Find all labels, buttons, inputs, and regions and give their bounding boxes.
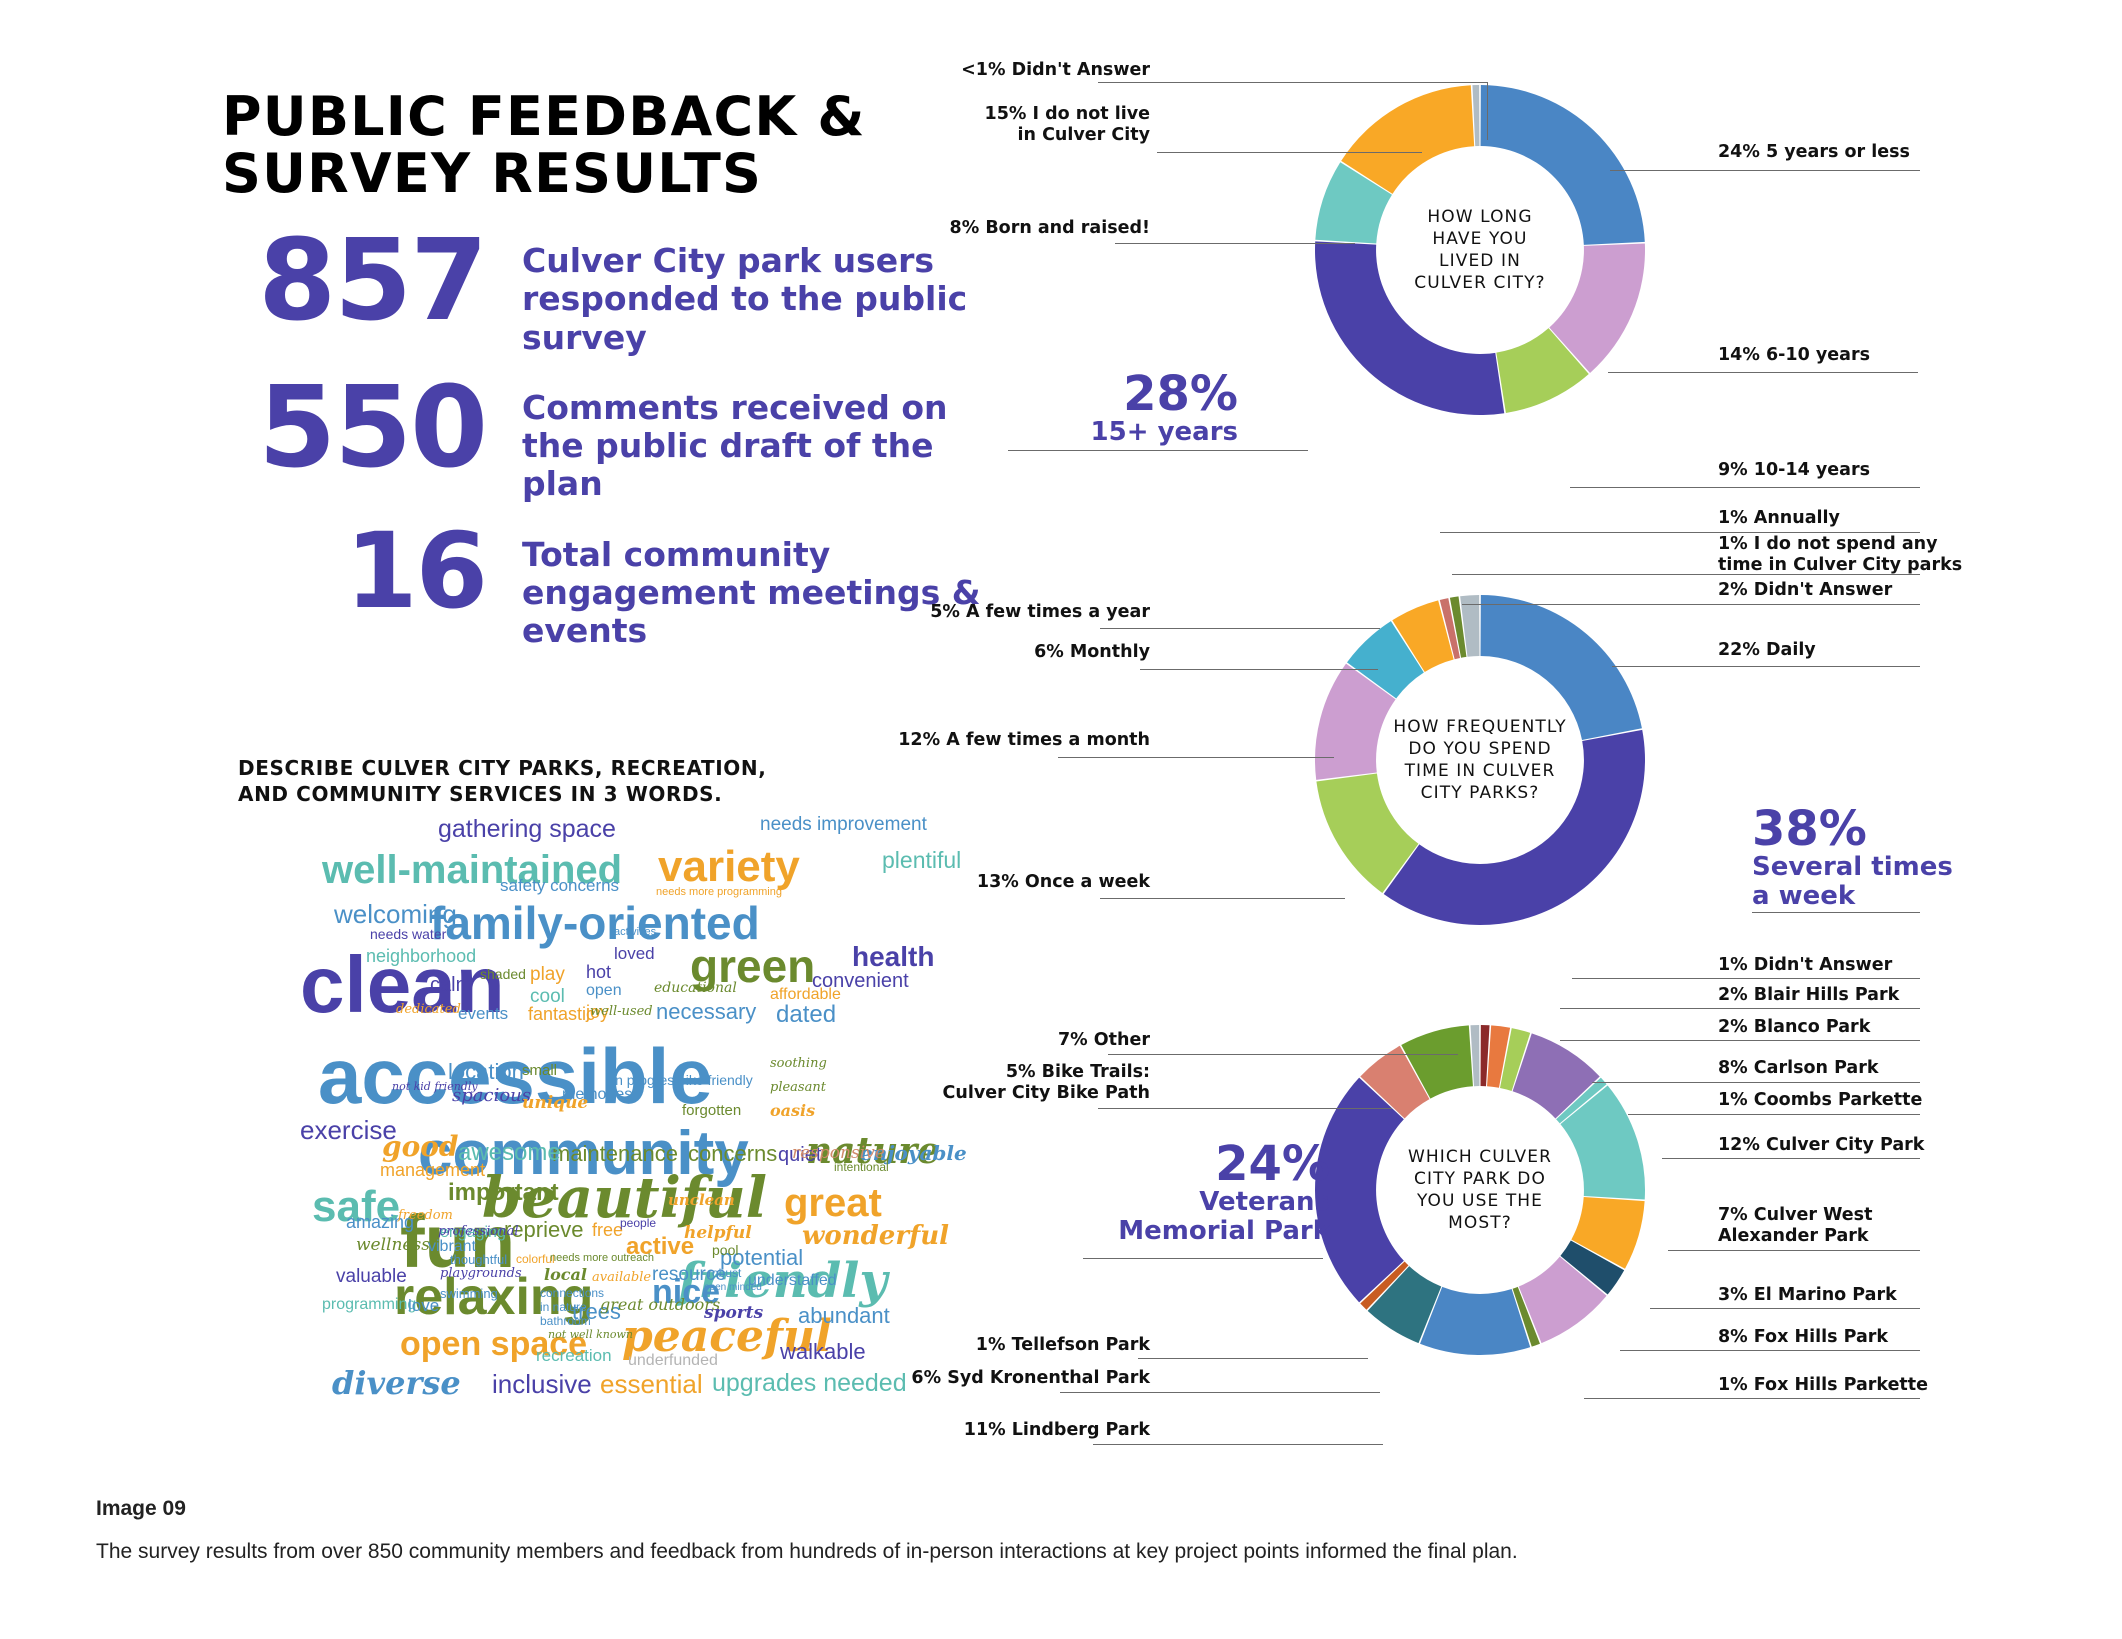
label-10-14-years: 9% 10-14 years	[1718, 460, 1870, 481]
wordcloud-word: underfunded	[628, 1353, 718, 1369]
label-few-times-month: 12% A few times a month	[722, 730, 1150, 751]
wordcloud-word: good	[382, 1133, 459, 1161]
wordcloud-word: swimming	[440, 1287, 498, 1300]
leader-line	[1100, 898, 1345, 899]
wordcloud-word: free	[592, 1221, 623, 1239]
leader-line	[1560, 1008, 1920, 1009]
label-not-live: 15% I do not live in Culver City	[790, 104, 1150, 147]
label-carlson: 8% Carlson Park	[1718, 1058, 1879, 1079]
label-annually: 1% Annually	[1718, 508, 1840, 529]
label-lindberg: 11% Lindberg Park	[760, 1420, 1150, 1441]
chart-which-park: WHICH CULVERCITY PARK DOYOU USE THEMOST?	[1315, 1025, 1645, 1355]
donut-segment[interactable]	[1315, 241, 1504, 415]
wordcloud-word: needs water	[370, 927, 446, 941]
wordcloud-word: diverse	[332, 1367, 461, 1399]
label-5-years-or-less: 24% 5 years or less	[1718, 142, 1910, 163]
wordcloud-word: maintenance	[552, 1143, 678, 1165]
donut-segment[interactable]	[1560, 1085, 1645, 1199]
wordcloud-word: plentiful	[882, 849, 961, 872]
label-fox-hills-parkette: 1% Fox Hills Parkette	[1718, 1375, 1928, 1396]
wordcloud-word: small	[522, 1063, 557, 1078]
wordcloud-word: events	[458, 1005, 508, 1022]
stat-number: 857	[222, 228, 522, 336]
leader-line	[1572, 978, 1920, 979]
wordcloud-word: unclean	[668, 1193, 735, 1208]
highlight-several-times-week: 38% Several timesa week	[1752, 805, 2032, 911]
wordcloud-word: in nature	[540, 1301, 587, 1313]
wordcloud-word: vibrant	[428, 1239, 476, 1255]
wordcloud-word: abundant	[798, 1305, 890, 1327]
wordcloud-word: necessary	[656, 1001, 756, 1023]
wordcloud-word: great outdoors	[600, 1297, 720, 1313]
stat-item: 16 Total community engagement meetings &…	[222, 522, 1022, 651]
leader-line	[1560, 1040, 1920, 1041]
wordcloud-word: wonderful	[802, 1223, 949, 1249]
donut-segment[interactable]	[1481, 85, 1645, 245]
label-blair-hills: 2% Blair Hills Park	[1718, 985, 1899, 1006]
wordcloud-word: local	[544, 1267, 587, 1283]
wordcloud-word: programming	[322, 1297, 416, 1313]
label-didnt-answer-2: 2% Didn't Answer	[1718, 580, 1892, 601]
leader-line	[1115, 243, 1355, 244]
wordcloud-word: sports	[704, 1305, 763, 1322]
wordcloud-word: not well known	[548, 1329, 633, 1340]
label-blanco: 2% Blanco Park	[1718, 1017, 1870, 1038]
wordcloud-heading: DESCRIBE CULVER CITY PARKS, RECREATION, …	[238, 755, 798, 807]
wordcloud-word: connections	[540, 1287, 604, 1299]
leader-line	[1570, 487, 1920, 488]
wordcloud-word: bathroom	[540, 1315, 591, 1327]
wordcloud-word: in progress	[612, 1073, 681, 1087]
wordcloud-word: loved	[614, 945, 655, 962]
wordcloud-word: recreation	[536, 1347, 612, 1364]
leader-line	[1098, 1108, 1392, 1109]
wordcloud-word: playgrounds	[440, 1267, 522, 1280]
leader-line	[1138, 1358, 1368, 1359]
leader-line	[1093, 1444, 1383, 1445]
label-tellefson: 1% Tellefson Park	[770, 1335, 1150, 1356]
stat-text: Total community engagement meetings & ev…	[522, 522, 992, 651]
wordcloud-word: not kid friendly	[392, 1081, 478, 1092]
wordcloud-word: educational	[654, 981, 737, 995]
leader-line	[1668, 1250, 1920, 1251]
wordcloud-word: bike friendly	[678, 1073, 753, 1087]
wordcloud-word: intentional	[834, 1161, 889, 1173]
wordcloud-word: memories	[562, 1087, 632, 1103]
stat-number: 550	[222, 375, 522, 483]
wordcloud-word: fantastic	[528, 1005, 595, 1023]
wordcloud-word: dated	[776, 1003, 836, 1027]
wordcloud-word: available	[592, 1271, 651, 1284]
leader-line	[1608, 372, 1918, 373]
wordcloud-word: needs more outreach	[550, 1253, 654, 1264]
leader-line	[1060, 1392, 1380, 1393]
wordcloud-word: gathering space	[438, 817, 616, 842]
highlight-veterans-memorial: 24% VeteransMemorial Park	[930, 1140, 1330, 1246]
title-line-2: SURVEY RESULTS	[222, 145, 942, 202]
label-few-times-year: 5% A few times a year	[760, 602, 1150, 623]
leader-line	[1140, 669, 1378, 670]
wordcloud-word: wellness	[356, 1237, 430, 1254]
wordcloud-word: convenient	[812, 971, 909, 991]
wordcloud-word: pool	[712, 1243, 738, 1257]
label-once-week: 13% Once a week	[760, 872, 1150, 893]
wordcloud-word: valuable	[336, 1267, 407, 1286]
label-monthly: 6% Monthly	[760, 642, 1150, 663]
leader-line	[1612, 666, 1920, 667]
leader-line	[1452, 574, 1920, 575]
stat-text: Culver City park users responded to the …	[522, 228, 992, 357]
leader-line	[1662, 1158, 1920, 1159]
wordcloud-word: open minded	[704, 1283, 762, 1293]
leader-line	[1592, 1082, 1920, 1083]
label-born-raised: 8% Born and raised!	[770, 218, 1150, 239]
wordcloud-word: oasis	[770, 1103, 815, 1119]
leader-line	[1098, 82, 1488, 83]
wordcloud-word: activities	[614, 927, 656, 938]
caption-text: The survey results from over 850 communi…	[96, 1540, 1518, 1564]
wordcloud-word: essential	[600, 1371, 703, 1397]
stat-item: 550 Comments received on the public draf…	[222, 375, 1022, 504]
wordcloud-word: important	[448, 1181, 559, 1205]
chart-how-frequently: HOW FREQUENTLYDO YOU SPENDTIME IN CULVER…	[1315, 595, 1645, 925]
donut-svg	[1315, 595, 1645, 925]
infographic-page: PUBLIC FEEDBACK & SURVEY RESULTS 857 Cul…	[0, 0, 2122, 1639]
leader-line	[1628, 1114, 1920, 1115]
chart-how-long-lived: HOW LONGHAVE YOULIVED INCULVER CITY?	[1315, 85, 1645, 415]
leader-line	[1487, 82, 1488, 140]
wordcloud-word: dedicated	[396, 1003, 461, 1016]
leader-line	[1584, 1398, 1920, 1399]
wordcloud-word: forgotten	[682, 1103, 741, 1118]
donut-svg	[1315, 85, 1645, 415]
donut-svg	[1315, 1025, 1645, 1355]
wordcloud-word: health	[852, 943, 934, 971]
leader-line	[1108, 1054, 1458, 1055]
leader-line	[1083, 1258, 1323, 1259]
wordcloud-word: welcoming	[334, 901, 457, 927]
label-el-marino: 3% El Marino Park	[1718, 1285, 1897, 1306]
label-no-time: 1% I do not spend any time in Culver Cit…	[1718, 534, 1962, 577]
leader-line	[1058, 757, 1334, 758]
leader-line	[1462, 604, 1920, 605]
leader-line	[1620, 1350, 1920, 1351]
leader-line	[1157, 152, 1422, 153]
leader-line	[1008, 450, 1308, 451]
label-daily: 22% Daily	[1718, 640, 1816, 661]
leader-line	[1650, 1308, 1920, 1309]
label-culver-city-park: 12% Culver City Park	[1718, 1135, 1924, 1156]
wordcloud-word: hot	[586, 963, 611, 981]
stat-item: 857 Culver City park users responded to …	[222, 228, 1022, 357]
highlight-15-plus-years: 28% 15+ years	[1008, 370, 1238, 447]
wordcloud-word: management	[380, 1161, 485, 1179]
label-culver-west: 7% Culver West Alexander Park	[1718, 1205, 1872, 1248]
leader-line	[1752, 912, 1920, 913]
wordcloud-word: professional	[438, 1225, 518, 1238]
donut-segment[interactable]	[1384, 730, 1645, 925]
wordcloud-word: freedom	[398, 1209, 453, 1222]
wordcloud-word: love	[408, 1297, 439, 1314]
label-bike-trails: 5% Bike Trails: Culver City Bike Path	[750, 1062, 1150, 1105]
wordcloud-word: colorful	[516, 1253, 555, 1265]
leader-line	[1100, 628, 1380, 629]
wordcloud-word: helpful	[684, 1225, 752, 1242]
label-6-10-years: 14% 6-10 years	[1718, 345, 1870, 366]
caption-image-id: Image 09	[96, 1497, 186, 1521]
stat-text: Comments received on the public draft of…	[522, 375, 992, 504]
wordcloud-word: great	[784, 1183, 882, 1223]
label-didnt-answer-1: <1% Didn't Answer	[830, 60, 1150, 81]
label-coombs: 1% Coombs Parkette	[1718, 1090, 1922, 1111]
leader-line	[1440, 532, 1920, 533]
wordcloud-word: play	[530, 965, 565, 984]
leader-line	[1610, 170, 1920, 171]
label-didnt-answer-3: 1% Didn't Answer	[1718, 955, 1892, 976]
wordcloud-word: shaded	[480, 967, 526, 981]
wordcloud-word: safety concerns	[500, 877, 619, 894]
label-other: 7% Other	[790, 1030, 1150, 1051]
donut-segment[interactable]	[1481, 595, 1642, 740]
wordcloud-word: concerns	[688, 1143, 777, 1165]
wordcloud-word: people	[620, 1217, 656, 1229]
wordcloud-word: open	[586, 983, 622, 999]
label-fox-hills: 8% Fox Hills Park	[1718, 1327, 1888, 1348]
wordcloud-word: inclusive	[492, 1371, 592, 1397]
wordcloud-word: robust	[708, 1267, 741, 1279]
wordcloud-word: neighborhood	[366, 947, 476, 965]
wordcloud-word: well-used	[590, 1005, 653, 1018]
label-syd-kronenthal: 6% Syd Kronenthal Park	[740, 1368, 1150, 1389]
wordcloud-word: calm	[430, 975, 472, 995]
wordcloud-word: needs improvement	[760, 815, 927, 834]
stat-number: 16	[222, 522, 522, 622]
